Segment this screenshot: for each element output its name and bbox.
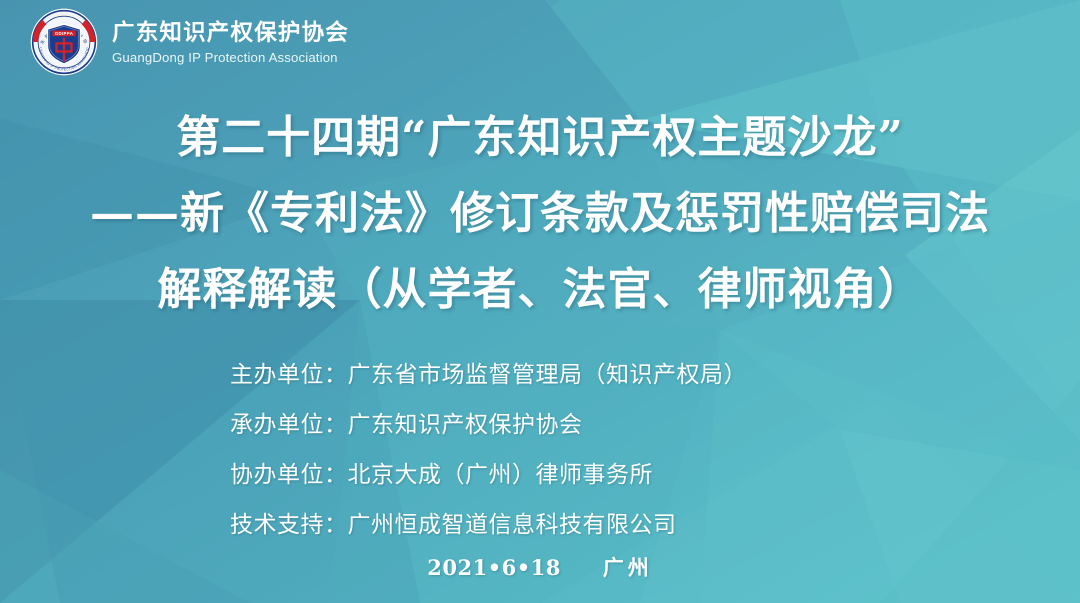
event-datetime-location: 2021•6•18 广州 [0,552,1080,582]
title-line-3: 解释解读（从学者、法官、律师视角） [0,252,1080,328]
organizer-list: 主办单位：广东省市场监督管理局（知识产权局） 承办单位：广东知识产权保护协会 协… [0,350,1080,550]
organizer-tech-support: 技术支持：广州恒成智道信息科技有限公司 [230,500,850,550]
organizer-undertaker: 承办单位：广东知识产权保护协会 [230,400,850,450]
brand-text-block: 广东知识产权保护协会 GuangDong IP Protection Assoc… [112,18,349,67]
title-line-1: 第二十四期“广东知识产权主题沙龙” [0,100,1080,176]
poster-title: 第二十四期“广东知识产权主题沙龙” ——新《专利法》修订条款及惩罚性赔偿司法 解… [0,100,1080,328]
event-city: 广州 [603,555,653,580]
event-poster: 广 东 知 识 产 权 保 护 协 会 GDIPPA GUANGDONG IP … [0,0,1080,603]
gdippa-emblem-icon: 广 东 知 识 产 权 保 护 协 会 GDIPPA GUANGDONG IP … [30,8,98,76]
association-brand-header: 广 东 知 识 产 权 保 护 协 会 GDIPPA GUANGDONG IP … [30,8,349,76]
association-name-en: GuangDong IP Protection Association [112,49,349,67]
title-line-2: ——新《专利法》修订条款及惩罚性赔偿司法 [0,176,1080,252]
event-date: 2021•6•18 [427,555,561,580]
organizer-cohost: 协办单位：北京大成（广州）律师事务所 [230,450,850,500]
organizer-host: 主办单位：广东省市场监督管理局（知识产权局） [230,350,850,400]
association-name-cn: 广东知识产权保护协会 [112,20,349,47]
svg-text:GDIPPA: GDIPPA [55,31,74,36]
